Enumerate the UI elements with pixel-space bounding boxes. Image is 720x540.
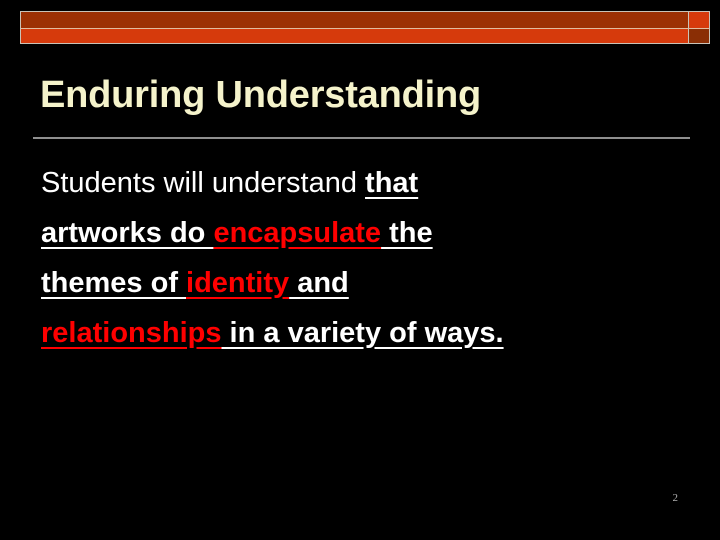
body-text-run: and bbox=[289, 267, 349, 299]
body-text-run: artworks do bbox=[41, 217, 213, 249]
title-divider bbox=[33, 137, 690, 139]
banner-accent-block bbox=[689, 12, 709, 43]
body-text: Students will understand thatartworks do… bbox=[41, 158, 701, 358]
body-line: relationships in a variety of ways. bbox=[41, 308, 701, 358]
decorative-banner bbox=[20, 11, 710, 44]
slide-canvas: Enduring Understanding Students will und… bbox=[0, 0, 720, 540]
slide-number: 2 bbox=[673, 492, 679, 504]
body-text-run: themes of bbox=[41, 267, 186, 299]
page-title: Enduring Understanding bbox=[40, 72, 690, 118]
body-text-run: the bbox=[381, 217, 433, 249]
banner-accent-top bbox=[689, 12, 709, 29]
body-text-run: in a variety of ways. bbox=[222, 317, 504, 349]
banner-accent-bottom bbox=[689, 29, 709, 43]
banner-bar-top bbox=[21, 12, 688, 29]
banner-main-bars bbox=[21, 12, 689, 43]
body-text-run: that bbox=[365, 167, 418, 199]
body-text-run: encapsulate bbox=[213, 217, 381, 249]
body-text-run: Students will understand bbox=[41, 167, 365, 199]
body-line: artworks do encapsulate the bbox=[41, 208, 701, 258]
body-line: themes of identity and bbox=[41, 258, 701, 308]
body-line: Students will understand that bbox=[41, 158, 701, 208]
body-text-run: identity bbox=[186, 267, 289, 299]
banner-bar-bottom bbox=[21, 29, 688, 43]
body-text-run: relationships bbox=[41, 317, 222, 349]
